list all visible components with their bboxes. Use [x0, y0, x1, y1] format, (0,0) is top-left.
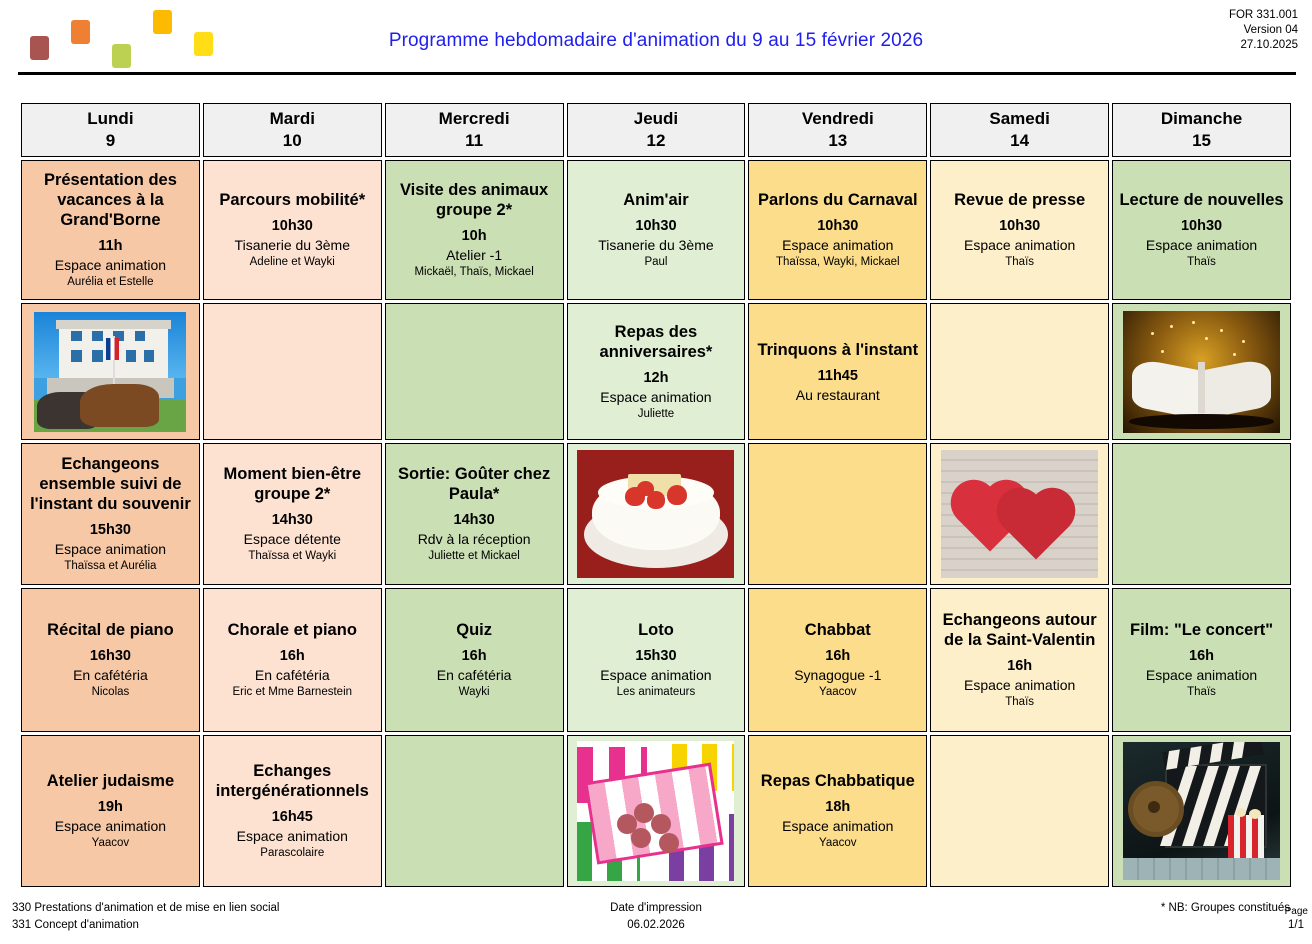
- activity-cell[interactable]: Chabbat 16h Synagogue -1 Yaacov: [748, 588, 927, 732]
- weekly-schedule-table: Lundi 9 Mardi 10 Mercredi 11 Jeudi 12 Ve…: [18, 100, 1294, 890]
- activity-place: Tisanerie du 3ème: [568, 236, 745, 254]
- activity-time: 10h30: [1113, 217, 1290, 236]
- day-name: Mercredi: [439, 109, 510, 128]
- activity-staff: Mickaël, Thaïs, Mickael: [386, 264, 563, 280]
- activity-place: Synagogue -1: [749, 666, 926, 684]
- schedule-row-5: Atelier judaisme 19h Espace animation Ya…: [21, 735, 1291, 887]
- page-number: 1/1: [1288, 917, 1304, 934]
- activity-title: Loto: [568, 620, 745, 640]
- activity-cell[interactable]: Echanges intergénérationnels 16h45 Espac…: [203, 735, 382, 887]
- magic-book-photo: [1113, 304, 1290, 439]
- activity-time: 10h30: [568, 217, 745, 236]
- activity-title: Echangeons ensemble suivi de l'instant d…: [22, 454, 199, 514]
- activity-place: Espace détente: [204, 530, 381, 548]
- activity-place: Atelier -1: [386, 246, 563, 264]
- page-footer: 330 Prestations d'animation et de mise e…: [0, 900, 1312, 944]
- activity-cell[interactable]: Parlons du Carnaval 10h30 Espace animati…: [748, 160, 927, 300]
- activity-place: En cafétéria: [386, 666, 563, 684]
- activity-cell[interactable]: Anim'air 10h30 Tisanerie du 3ème Paul: [567, 160, 746, 300]
- activity-staff: Thaïs: [1113, 254, 1290, 270]
- activity-place: Espace animation: [568, 666, 745, 684]
- activity-place: En cafétéria: [22, 666, 199, 684]
- day-number: 13: [749, 130, 926, 152]
- activity-time: 16h: [749, 647, 926, 666]
- activity-staff: Wayki: [386, 684, 563, 700]
- day-header-jeudi: Jeudi 12: [567, 103, 746, 157]
- day-name: Samedi: [989, 109, 1049, 128]
- activity-title: Revue de presse: [931, 190, 1108, 210]
- activity-cell[interactable]: Visite des animaux groupe 2* 10h Atelier…: [385, 160, 564, 300]
- activity-title: Lecture de nouvelles: [1113, 190, 1290, 210]
- activity-time: 10h30: [749, 217, 926, 236]
- activity-cell[interactable]: Quiz 16h En cafétéria Wayki: [385, 588, 564, 732]
- birthday-cake-photo: [568, 444, 745, 584]
- empty-cell: [385, 735, 564, 887]
- activity-title: Présentation des vacances à la Grand'Bor…: [22, 170, 199, 230]
- activity-title: Echanges intergénérationnels: [204, 761, 381, 801]
- activity-staff: Thaïs: [931, 254, 1108, 270]
- activity-place: En cafétéria: [204, 666, 381, 684]
- form-code: FOR 331.001: [1229, 8, 1298, 23]
- activity-time: 15h30: [22, 521, 199, 540]
- day-name: Mardi: [270, 109, 315, 128]
- activity-title: Moment bien-être groupe 2*: [204, 464, 381, 504]
- activity-cell[interactable]: Echangeons autour de la Saint-Valentin 1…: [930, 588, 1109, 732]
- activity-cell[interactable]: Repas Chabbatique 18h Espace animation Y…: [748, 735, 927, 887]
- activity-title: Atelier judaisme: [22, 771, 199, 791]
- activity-time: 16h: [204, 647, 381, 666]
- activity-cell[interactable]: Sortie: Goûter chez Paula* 14h30 Rdv à l…: [385, 443, 564, 585]
- activity-time: 16h: [931, 657, 1108, 676]
- activity-time: 14h30: [204, 511, 381, 530]
- activity-staff: Juliette: [568, 406, 745, 422]
- activity-time: 16h: [1113, 647, 1290, 666]
- activity-cell[interactable]: Revue de presse 10h30 Espace animation T…: [930, 160, 1109, 300]
- activity-place: Espace animation: [931, 676, 1108, 694]
- activity-staff: Thaïs: [931, 694, 1108, 710]
- activity-time: 16h: [386, 647, 563, 666]
- day-header-samedi: Samedi 14: [930, 103, 1109, 157]
- activity-time: 10h30: [204, 217, 381, 236]
- activity-staff: Nicolas: [22, 684, 199, 700]
- activity-place: Espace animation: [931, 236, 1108, 254]
- day-number: 12: [568, 130, 745, 152]
- empty-cell: [385, 303, 564, 440]
- activity-time: 10h: [386, 227, 563, 246]
- day-header-dimanche: Dimanche 15: [1112, 103, 1291, 157]
- activity-staff: Adeline et Wayki: [204, 254, 381, 270]
- activity-time: 19h: [22, 798, 199, 817]
- activity-place: Espace animation: [22, 540, 199, 558]
- day-number: 11: [386, 130, 563, 152]
- activity-time: 14h30: [386, 511, 563, 530]
- activity-place: Espace animation: [749, 236, 926, 254]
- print-date-label: Date d'impression: [0, 900, 1312, 917]
- activity-place: Espace animation: [749, 817, 926, 835]
- activity-place: Espace animation: [1113, 666, 1290, 684]
- image-cell: [567, 735, 746, 887]
- activity-cell[interactable]: Echangeons ensemble suivi de l'instant d…: [21, 443, 200, 585]
- activity-cell[interactable]: Moment bien-être groupe 2* 14h30 Espace …: [203, 443, 382, 585]
- activity-title: Anim'air: [568, 190, 745, 210]
- activity-staff: Juliette et Mickael: [386, 548, 563, 564]
- activity-place: Espace animation: [568, 388, 745, 406]
- activity-staff: Yaacov: [22, 835, 199, 851]
- activity-time: 18h: [749, 798, 926, 817]
- activity-cell[interactable]: Présentation des vacances à la Grand'Bor…: [21, 160, 200, 300]
- document-date: 27.10.2025: [1229, 38, 1298, 53]
- activity-time: 12h: [568, 369, 745, 388]
- activity-time: 10h30: [931, 217, 1108, 236]
- activity-cell[interactable]: Récital de piano 16h30 En cafétéria Nico…: [21, 588, 200, 732]
- day-name: Jeudi: [634, 109, 678, 128]
- header-divider: [18, 72, 1296, 75]
- activity-cell[interactable]: Film: "Le concert" 16h Espace animation …: [1112, 588, 1291, 732]
- activity-staff: Thaïs: [1113, 684, 1290, 700]
- day-header-vendredi: Vendredi 13: [748, 103, 927, 157]
- activity-time: 16h45: [204, 808, 381, 827]
- empty-cell: [930, 303, 1109, 440]
- empty-cell: [930, 735, 1109, 887]
- page-title: Programme hebdomadaire d'animation du 9 …: [0, 30, 1312, 52]
- activity-title: Parcours mobilité*: [204, 190, 381, 210]
- activity-cell[interactable]: Loto 15h30 Espace animation Les animateu…: [567, 588, 746, 732]
- activity-title: Visite des animaux groupe 2*: [386, 180, 563, 220]
- bingo-cards-photo: [568, 736, 745, 886]
- activity-title: Récital de piano: [22, 620, 199, 640]
- activity-staff: Parascolaire: [204, 845, 381, 861]
- activity-place: Rdv à la réception: [386, 530, 563, 548]
- day-number: 15: [1113, 130, 1290, 152]
- footer-note: * NB: Groupes constitués: [1161, 900, 1290, 917]
- activity-staff: Thaïssa et Aurélia: [22, 558, 199, 574]
- activity-time: 15h30: [568, 647, 745, 666]
- day-name: Vendredi: [802, 109, 874, 128]
- document-meta: FOR 331.001 Version 04 27.10.2025: [1229, 8, 1298, 53]
- image-cell: [1112, 303, 1291, 440]
- activity-title: Repas Chabbatique: [749, 771, 926, 791]
- activity-title: Repas des anniversaires*: [568, 322, 745, 362]
- schedule-row-4: Récital de piano 16h30 En cafétéria Nico…: [21, 588, 1291, 732]
- activity-title: Chabbat: [749, 620, 926, 640]
- activity-title: Parlons du Carnaval: [749, 190, 926, 210]
- activity-staff: Eric et Mme Barnestein: [204, 684, 381, 700]
- image-cell: [930, 443, 1109, 585]
- empty-cell: [203, 303, 382, 440]
- activity-title: Echangeons autour de la Saint-Valentin: [931, 610, 1108, 650]
- activity-cell[interactable]: Atelier judaisme 19h Espace animation Ya…: [21, 735, 200, 887]
- activity-cell[interactable]: Repas des anniversaires* 12h Espace anim…: [567, 303, 746, 440]
- activity-staff: Paul: [568, 254, 745, 270]
- activity-cell[interactable]: Parcours mobilité* 10h30 Tisanerie du 3è…: [203, 160, 382, 300]
- activity-time: 11h: [22, 237, 199, 256]
- activity-place: Espace animation: [204, 827, 381, 845]
- day-header-mardi: Mardi 10: [203, 103, 382, 157]
- activity-place: Espace animation: [22, 817, 199, 835]
- empty-cell: [748, 443, 927, 585]
- activity-time: 16h30: [22, 647, 199, 666]
- image-cell: [21, 303, 200, 440]
- activity-cell[interactable]: Lecture de nouvelles 10h30 Espace animat…: [1112, 160, 1291, 300]
- activity-place: Espace animation: [22, 256, 199, 274]
- document-version: Version 04: [1229, 23, 1298, 38]
- activity-title: Quiz: [386, 620, 563, 640]
- footer-print-info: Date d'impression 06.02.2026: [0, 900, 1312, 934]
- red-hearts-photo: [931, 444, 1108, 584]
- activity-staff: Yaacov: [749, 684, 926, 700]
- activity-staff: Thaïssa, Wayki, Mickael: [749, 254, 926, 270]
- day-number: 9: [22, 130, 199, 152]
- activity-title: Sortie: Goûter chez Paula*: [386, 464, 563, 504]
- schedule-row-2: Repas des anniversaires* 12h Espace anim…: [21, 303, 1291, 440]
- activity-title: Trinquons à l'instant: [749, 340, 926, 360]
- activity-place: Espace animation: [1113, 236, 1290, 254]
- activity-staff: Yaacov: [749, 835, 926, 851]
- table-header-row: Lundi 9 Mardi 10 Mercredi 11 Jeudi 12 Ve…: [21, 103, 1291, 157]
- day-name: Lundi: [87, 109, 133, 128]
- activity-title: Chorale et piano: [204, 620, 381, 640]
- activity-title: Film: "Le concert": [1113, 620, 1290, 640]
- activity-staff: Thaïssa et Wayki: [204, 548, 381, 564]
- day-header-mercredi: Mercredi 11: [385, 103, 564, 157]
- activity-place: Tisanerie du 3ème: [204, 236, 381, 254]
- activity-staff: Aurélia et Estelle: [22, 274, 199, 290]
- activity-cell[interactable]: Chorale et piano 16h En cafétéria Eric e…: [203, 588, 382, 732]
- day-name: Dimanche: [1161, 109, 1242, 128]
- day-header-lundi: Lundi 9: [21, 103, 200, 157]
- schedule-row-3: Echangeons ensemble suivi de l'instant d…: [21, 443, 1291, 585]
- activity-cell[interactable]: Trinquons à l'instant 11h45 Au restauran…: [748, 303, 927, 440]
- image-cell: [567, 443, 746, 585]
- empty-cell: [1112, 443, 1291, 585]
- page-header: Programme hebdomadaire d'animation du 9 …: [0, 0, 1312, 84]
- activity-place: Au restaurant: [749, 386, 926, 404]
- schedule-row-1: Présentation des vacances à la Grand'Bor…: [21, 160, 1291, 300]
- activity-staff: Les animateurs: [568, 684, 745, 700]
- day-number: 10: [204, 130, 381, 152]
- image-cell: [1112, 735, 1291, 887]
- print-date-value: 06.02.2026: [0, 917, 1312, 934]
- building-cows-photo: [22, 304, 199, 439]
- activity-time: 11h45: [749, 367, 926, 386]
- day-number: 14: [931, 130, 1108, 152]
- cinema-clapperboard-photo: [1113, 736, 1290, 886]
